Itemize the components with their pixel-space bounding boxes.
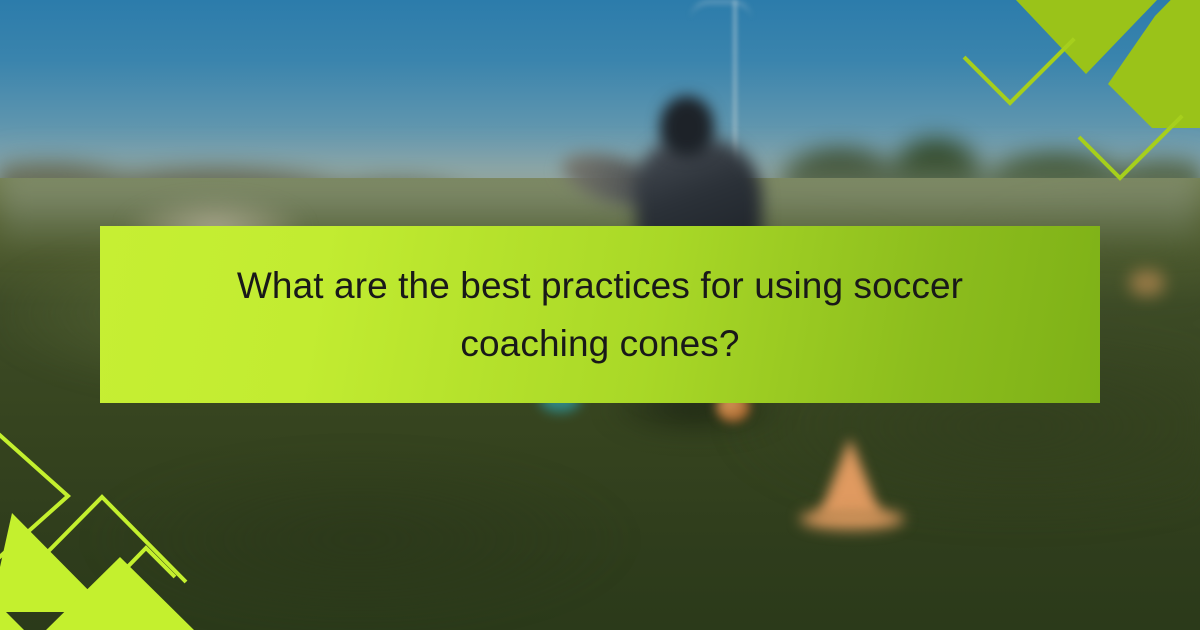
training-cone-base [800, 508, 904, 530]
goal-crossbar [690, 0, 752, 20]
training-cone-icon [818, 438, 882, 518]
page-title: What are the best practices for using so… [205, 257, 995, 372]
player-head [660, 96, 714, 156]
headline-banner: What are the best practices for using so… [100, 226, 1100, 403]
cone-distant [1130, 270, 1164, 296]
social-card: What are the best practices for using so… [0, 0, 1200, 630]
